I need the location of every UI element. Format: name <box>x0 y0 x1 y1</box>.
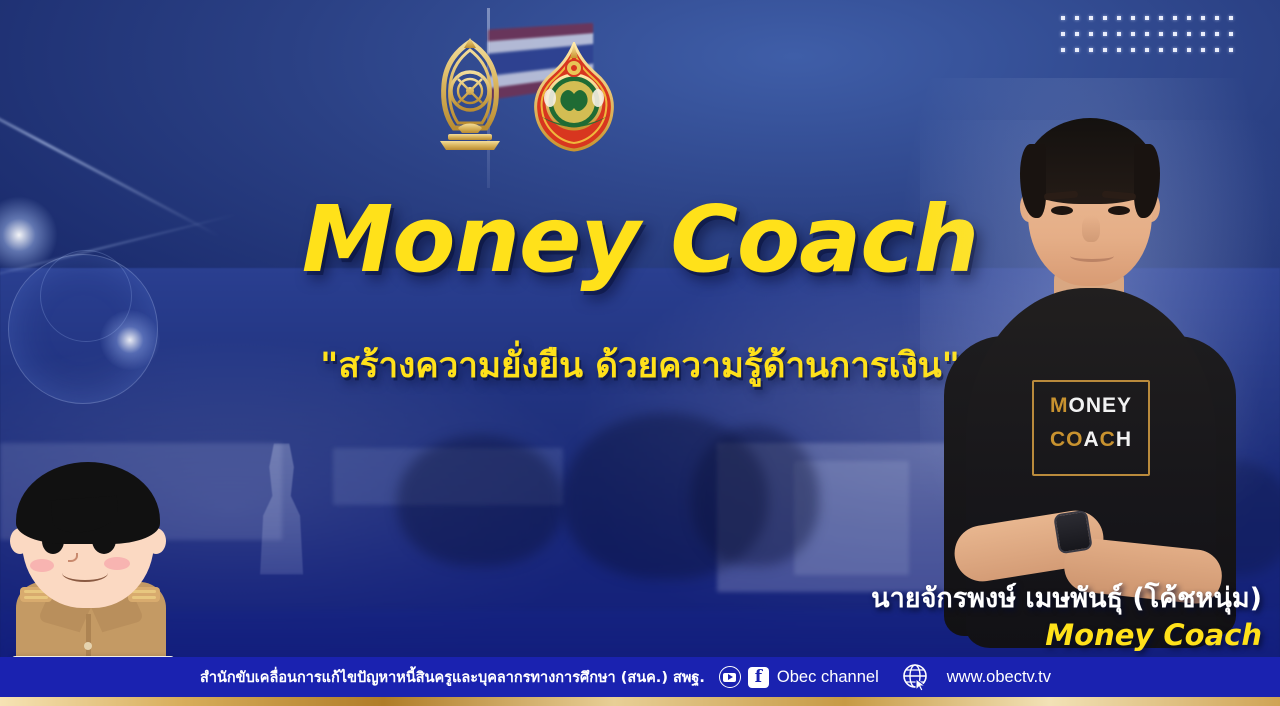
footer-social-icons: f <box>719 666 769 688</box>
speaker-name: นายจักรพงษ์ เมษพันธุ์ (โค้ชหนุ่ม) <box>871 582 1262 616</box>
background-tree <box>691 426 819 566</box>
mascot-blush-left <box>30 559 54 572</box>
globe-icon[interactable] <box>901 662 931 692</box>
mascot-smile <box>62 564 108 582</box>
tshirt-logo-line1: MONEY <box>1032 394 1150 418</box>
background-tree <box>397 435 563 566</box>
speaker-role: Money Coach <box>871 618 1262 652</box>
presenter-wristwatch <box>1053 510 1093 555</box>
emblem-group <box>420 36 630 154</box>
presenter-eye-left <box>1051 206 1073 215</box>
footer-website-url[interactable]: www.obectv.tv <box>947 668 1051 687</box>
presenter-eye-right <box>1108 206 1130 215</box>
obec-emblem-icon <box>528 42 620 154</box>
footer-bar: สำนักขับเคลื่อนการแก้ไขปัญหาหนี้สินครูแล… <box>0 657 1280 697</box>
tshirt-logo-line2: COACH <box>1032 428 1150 452</box>
youtube-icon[interactable] <box>719 666 741 688</box>
presenter-photo: MONEY COACH <box>936 88 1236 648</box>
footer-gold-strip <box>0 697 1280 706</box>
speaker-caption: นายจักรพงษ์ เมษพันธุ์ (โค้ชหนุ่ม) Money … <box>871 582 1262 652</box>
presenter-nose <box>1082 216 1100 242</box>
facebook-icon[interactable]: f <box>748 667 769 688</box>
presenter-smile <box>1070 250 1114 262</box>
dot-grid-decoration <box>1056 10 1238 58</box>
footer-channel-name: Obec channel <box>777 668 879 687</box>
ministry-of-education-emblem-icon <box>420 36 520 154</box>
mascot-button <box>84 642 92 650</box>
footer-organization: สำนักขับเคลื่อนการแก้ไขปัญหาหนี้สินครูแล… <box>200 666 705 689</box>
slide-canvas: Money Coach "สร้างความยั่งยืน ด้วยความรู… <box>0 0 1280 706</box>
